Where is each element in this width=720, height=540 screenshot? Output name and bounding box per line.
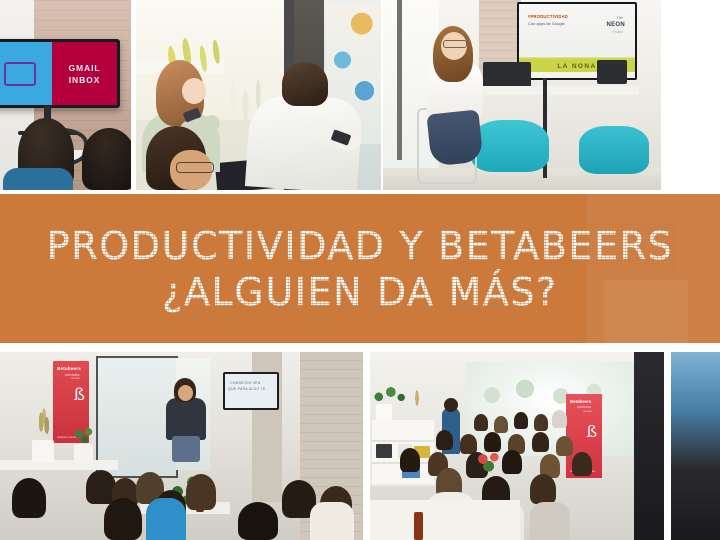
screen-left-panel <box>0 42 52 105</box>
photo-coworking-people-phones <box>136 0 381 190</box>
photo-gap-3 <box>363 352 370 540</box>
dried-wheat <box>408 382 426 414</box>
presentation-screen: CONSEJOS VEN QUE PARA ALGO TE <box>223 372 279 410</box>
speaker-jeans <box>426 109 483 166</box>
audience-head <box>534 414 548 431</box>
photo-gap-4 <box>664 352 671 540</box>
audience-head <box>514 412 528 429</box>
screen-text-line-2: QUE PARA ALGO TE <box>228 387 266 391</box>
audience-head <box>436 430 453 450</box>
banner-line-1: Betabeers <box>570 399 591 404</box>
audience-head <box>552 410 567 428</box>
beanbag-left <box>471 120 549 172</box>
shelf-plant-pot <box>376 404 392 420</box>
audience-head <box>556 436 573 456</box>
slide-subtitle: Con apps de Google <box>528 21 565 26</box>
plant-pot-1 <box>32 440 54 462</box>
photo-betabeers-talk-audience: Betabeers córdoba meetup ß betabeers.com… <box>0 352 363 540</box>
audience-head <box>238 502 278 540</box>
shelf-object <box>376 444 392 458</box>
photo-gmail-inbox-presentation: GMAIL INBOX <box>0 0 131 190</box>
long-desk <box>479 86 639 95</box>
right-margin-top <box>661 0 720 190</box>
betabeers-logo: ß <box>586 424 597 440</box>
photo-speaker-on-stool: #PRODUCTIVIDAD Con apps de Google The NE… <box>383 0 661 190</box>
banner-bottom-edge <box>0 343 720 352</box>
speaker-legs <box>172 436 200 462</box>
screen-text-line-1: CONSEJOS VEN <box>230 381 261 385</box>
banner-line-3: meetup <box>71 377 80 380</box>
audience-head <box>186 474 216 510</box>
second-monitor <box>597 60 627 84</box>
woman-face <box>182 78 206 104</box>
dried-plant <box>30 400 58 444</box>
audience-head <box>530 474 556 504</box>
speaker-body <box>166 398 206 440</box>
audience-head <box>532 432 549 452</box>
audience-body <box>530 502 570 540</box>
gmail-label-line1: GMAIL <box>69 62 101 74</box>
photo-gap-1 <box>131 0 136 190</box>
gmail-envelope-icon <box>4 62 36 86</box>
banner-highlight-corner <box>604 280 688 343</box>
attendee-head-right <box>82 128 131 190</box>
presentation-screen: GMAIL INBOX <box>0 39 120 108</box>
foreground-table <box>370 500 520 540</box>
audience-head <box>572 452 592 476</box>
banner-line-1: Betabeers <box>57 366 81 371</box>
slide-brand: NEON <box>606 22 625 28</box>
photo-betabeers-full-room-audience: Betabeers córdoba meetup ß betabeers.com… <box>370 352 664 540</box>
white-shelf <box>0 460 118 470</box>
slide-brand-sub: Project <box>612 30 623 34</box>
audience-head <box>494 416 508 433</box>
eyeglasses <box>176 162 214 173</box>
beanbag-right <box>579 126 649 174</box>
audience-head <box>474 414 488 431</box>
standing-speaker-head <box>444 398 458 412</box>
banner-line-2: córdoba <box>577 405 591 409</box>
audience-white-shirt <box>310 502 354 540</box>
gmail-label-line2: INBOX <box>69 74 100 86</box>
beer-bottle <box>414 512 423 540</box>
monitor-on-desk <box>483 62 531 88</box>
far-right-photo-strip <box>671 352 720 540</box>
dark-foreground-figure <box>634 352 664 540</box>
audience-head <box>400 448 420 472</box>
photo-gap-2 <box>381 0 383 190</box>
flower-arrangement <box>472 444 508 474</box>
man-white-shirt-head <box>282 62 328 106</box>
screen-right-panel: GMAIL INBOX <box>52 42 117 105</box>
screen-content: GMAIL INBOX <box>0 42 117 105</box>
banner-line-3: meetup <box>583 410 592 413</box>
screen-content: CONSEJOS VEN QUE PARA ALGO TE <box>225 374 277 408</box>
presentation-slide: GMAIL INBOX <box>0 0 720 540</box>
audience-blue-shirt <box>146 498 186 540</box>
venue-name: LA NONA <box>557 63 596 70</box>
attendee-shirt <box>3 168 73 190</box>
banner-top-edge <box>0 190 720 194</box>
audience-head <box>104 498 142 540</box>
window-frame <box>397 0 402 160</box>
slide-brand-small: The <box>617 16 623 20</box>
betabeers-logo: ß <box>74 387 85 404</box>
shelf-divider <box>372 440 434 442</box>
speaker-face <box>178 385 193 401</box>
audience-head <box>12 478 46 518</box>
speaker-glasses <box>443 40 467 48</box>
plant-pot-2 <box>74 444 93 463</box>
slide-hashtag: #PRODUCTIVIDAD <box>528 14 568 19</box>
